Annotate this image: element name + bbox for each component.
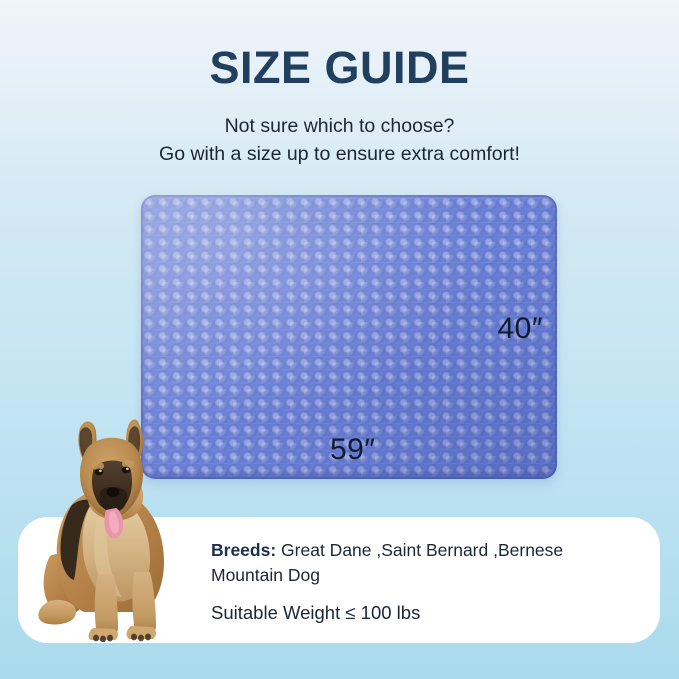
- subtitle-line-1: Not sure which to choose?: [0, 113, 679, 141]
- suitable-weight-text: Suitable Weight ≤ 100 lbs: [211, 602, 631, 624]
- cooling-mat-image: 40″ 59″: [141, 195, 557, 479]
- dog-eye-right: [122, 467, 131, 474]
- breeds-label: Breeds:: [211, 540, 276, 560]
- subtitle-line-2: Go with a size up to ensure extra comfor…: [0, 141, 679, 169]
- subtitle-block: Not sure which to choose? Go with a size…: [0, 113, 679, 168]
- dog-eye-right-glint: [126, 468, 129, 471]
- dog-eye-left: [95, 469, 104, 476]
- dimension-height-label: 40″: [498, 312, 544, 346]
- dog-front-leg-left: [95, 574, 118, 637]
- size-guide-poster: SIZE GUIDE Not sure which to choose? Go …: [0, 0, 679, 679]
- dog-nose: [107, 487, 120, 496]
- page-title: SIZE GUIDE: [0, 44, 679, 91]
- info-text-block: Breeds: Great Dane ,Saint Bernard ,Berne…: [211, 538, 631, 624]
- german-shepherd-image: [36, 406, 186, 642]
- breeds-line: Breeds: Great Dane ,Saint Bernard ,Berne…: [211, 538, 631, 588]
- dimension-width-label: 59″: [330, 433, 376, 467]
- dog-rear-paw: [38, 600, 76, 625]
- dog-eye-left-glint: [99, 470, 102, 473]
- dog-brow-right: [122, 460, 134, 468]
